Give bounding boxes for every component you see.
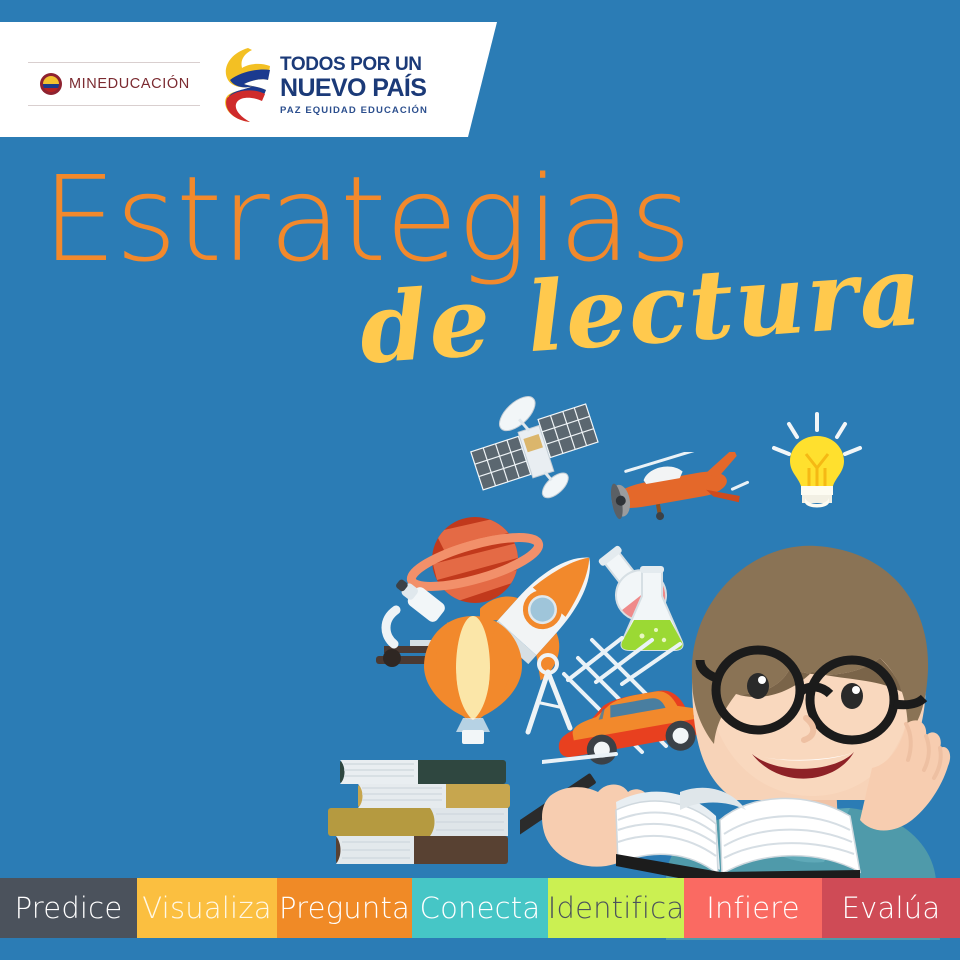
- mineducacion-label: MINEDUCACIÓN: [69, 76, 190, 92]
- campaign-line-2: NUEVO PAÍS: [280, 76, 428, 101]
- campaign-text: TODOS POR UN NUEVO PAÍS PAZ EQUIDAD EDUC…: [280, 55, 428, 116]
- strategy-conecta[interactable]: Conecta: [412, 878, 548, 938]
- strategy-label: Infiere: [706, 891, 800, 925]
- book-stack-icon: [318, 756, 518, 887]
- satellite-icon: [470, 392, 600, 517]
- strategy-evalua[interactable]: Evalúa: [822, 878, 960, 938]
- strategy-label: Evalúa: [842, 891, 941, 925]
- open-book-icon: [520, 724, 900, 899]
- strategy-visualiza[interactable]: Visualiza: [137, 878, 277, 938]
- mineducacion-logo: MINEDUCACIÓN: [28, 62, 200, 106]
- strategy-predice[interactable]: Predice: [0, 878, 137, 938]
- strategy-label: Visualiza: [142, 891, 271, 925]
- campaign-line-3: PAZ EQUIDAD EDUCACIÓN: [280, 106, 428, 116]
- strategy-identifica[interactable]: Identifica: [548, 878, 684, 938]
- strategy-label: Pregunta: [279, 891, 410, 925]
- todos-por-un-nuevo-pais-logo: TODOS POR UN NUEVO PAÍS PAZ EQUIDAD EDUC…: [218, 46, 428, 124]
- strategies-strip: Predice Visualiza Pregunta Conecta Ident…: [0, 878, 960, 938]
- strategy-label: Conecta: [420, 891, 541, 925]
- lightbulb-icon: [762, 406, 872, 521]
- strategy-infiere[interactable]: Infiere: [684, 878, 822, 938]
- airplane-icon: [590, 452, 750, 537]
- poster-canvas: MINEDUCACIÓN TODOS POR UN NUEVO PAÍS PAZ…: [0, 0, 960, 960]
- colombia-flag-ribbon-icon: [218, 46, 272, 124]
- campaign-line-1: TODOS POR UN: [280, 55, 428, 74]
- colombia-seal-icon: [40, 73, 62, 95]
- strategy-pregunta[interactable]: Pregunta: [277, 878, 412, 938]
- strategy-label: Identifica: [548, 891, 685, 925]
- strategy-label: Predice: [15, 891, 123, 925]
